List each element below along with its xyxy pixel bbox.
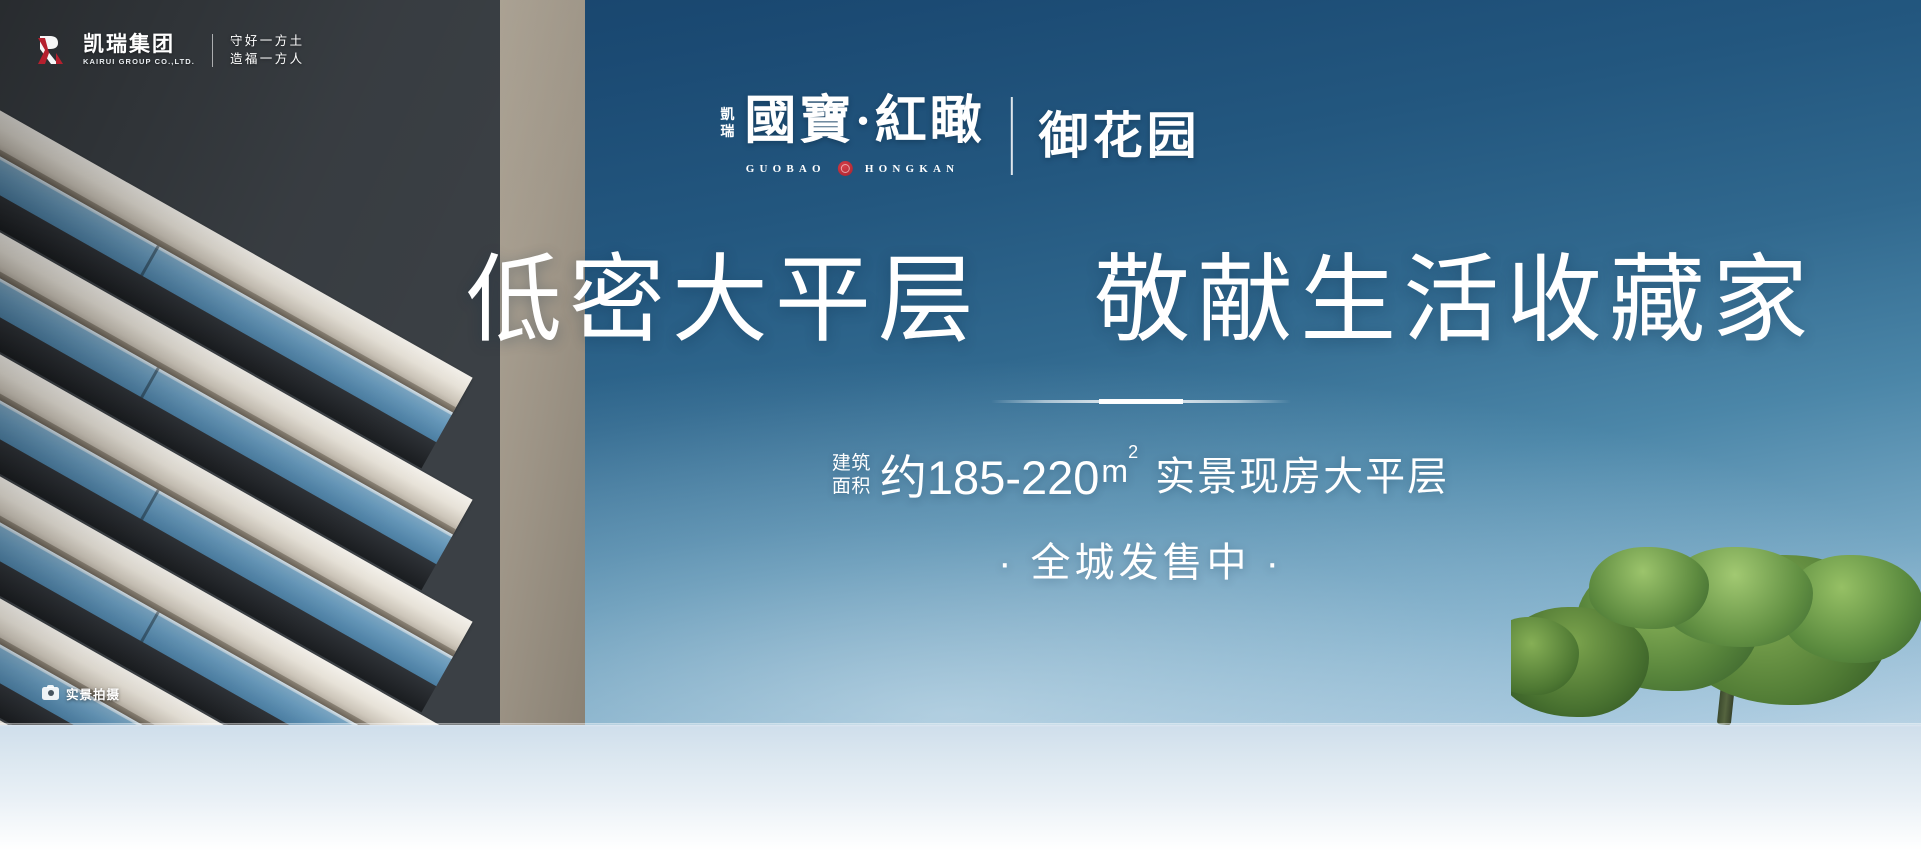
area-label-line-2: 面积 <box>832 475 871 498</box>
red-seal-icon <box>838 161 853 176</box>
area-tail-text: 实景现房大平层 <box>1155 444 1449 502</box>
project-prefix-char-2: 瑞 <box>720 124 734 141</box>
slogan-line-1: 守好一方土 <box>230 34 305 48</box>
photo-watermark: 实景拍摄 <box>42 684 120 703</box>
corporate-logo[interactable]: 凯瑞集团 KAIRUI GROUP CO.,LTD. 守好一方土 造福一方人 <box>36 33 305 67</box>
advertisement-banner: 凯瑞集团 KAIRUI GROUP CO.,LTD. 守好一方土 造福一方人 凱… <box>0 0 1921 851</box>
project-logo-left: 凱 瑞 國寶·紅瞰 GUOBAO HONGKAN <box>720 96 984 176</box>
area-label: 建筑 面积 <box>832 452 871 498</box>
pinyin-right: HONGKAN <box>865 163 959 175</box>
slogan-line-2: 造福一方人 <box>230 52 305 66</box>
project-logo-vertical-divider <box>1011 97 1013 175</box>
headline-part-2: 敬献生活收藏家 <box>1094 247 1815 354</box>
project-prefix-char-1: 凱 <box>720 107 734 124</box>
area-unit-superscript: 2 <box>1128 442 1138 462</box>
project-prefix: 凱 瑞 <box>720 107 734 141</box>
project-name-right: 御花园 <box>1039 111 1201 161</box>
corporate-name-en: KAIRUI GROUP CO.,LTD. <box>83 58 195 66</box>
area-unit: m2 <box>1101 453 1138 490</box>
logo-divider <box>212 34 213 67</box>
corporate-name-cn: 凯瑞集团 <box>83 34 195 55</box>
ornamental-divider <box>991 400 1291 403</box>
project-logo[interactable]: 凱 瑞 國寶·紅瞰 GUOBAO HONGKAN 御花园 <box>720 96 1200 176</box>
kairui-r-mark-icon <box>36 33 70 67</box>
area-unit-base: m <box>1101 453 1128 489</box>
copy-block: 低密大平层 敬献生活收藏家 建筑 面积 约185-220 m2 实景现房大平层 … <box>0 250 1921 588</box>
cta-text: · 全城发售中 · <box>998 530 1283 588</box>
watermark-text: 实景拍摄 <box>66 684 120 703</box>
subline: 建筑 面积 约185-220 m2 实景现房大平层 <box>832 439 1449 508</box>
corporate-name-block: 凯瑞集团 KAIRUI GROUP CO.,LTD. <box>83 34 195 66</box>
headline: 低密大平层 敬献生活收藏家 <box>466 250 1815 352</box>
corporate-slogan: 守好一方土 造福一方人 <box>230 34 305 66</box>
project-name-main: 國寶·紅瞰 <box>744 96 984 148</box>
headline-part-1: 低密大平层 <box>466 247 981 354</box>
project-pinyin: GUOBAO HONGKAN <box>746 161 960 176</box>
camera-icon <box>42 687 59 700</box>
area-label-line-1: 建筑 <box>832 452 871 475</box>
pinyin-left: GUOBAO <box>746 163 826 175</box>
bottom-gradient-strip <box>0 725 1921 851</box>
area-value: 约185-220 <box>880 439 1100 508</box>
project-name-row: 凱 瑞 國寶·紅瞰 <box>720 96 984 148</box>
